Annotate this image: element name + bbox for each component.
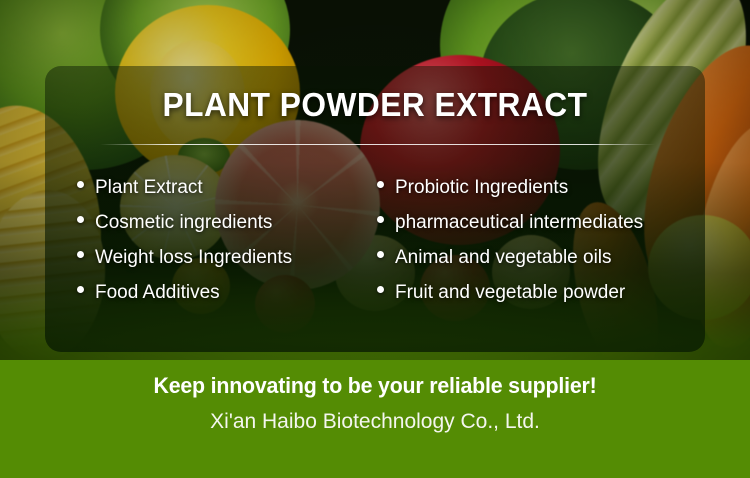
list-item-label: Probiotic Ingredients [395,170,568,205]
bullet-dot-icon [377,181,384,188]
list-item: Probiotic Ingredients [377,170,705,205]
product-banner: PLANT POWDER EXTRACT Plant Extract Cosme… [0,0,750,478]
left-category-column: Plant Extract Cosmetic ingredients Weigh… [45,170,377,310]
bullet-dot-icon [77,251,84,258]
bullet-dot-icon [77,181,84,188]
list-item-label: Animal and vegetable oils [395,240,612,275]
right-category-column: Probiotic Ingredients pharmaceutical int… [377,170,705,310]
list-item: Fruit and vegetable powder [377,275,705,310]
content-card: PLANT POWDER EXTRACT Plant Extract Cosme… [45,66,705,352]
list-item-label: Fruit and vegetable powder [395,275,625,310]
list-item-label: pharmaceutical intermediates [395,205,643,240]
list-item-label: Cosmetic ingredients [95,205,272,240]
page-title: PLANT POWDER EXTRACT [58,86,692,124]
list-item: Food Additives [77,275,377,310]
product-category-columns: Plant Extract Cosmetic ingredients Weigh… [45,170,705,310]
left-category-list: Plant Extract Cosmetic ingredients Weigh… [77,170,377,310]
company-name: Xi'an Haibo Biotechnology Co., Ltd. [0,410,750,434]
list-item: Weight loss Ingredients [77,240,377,275]
list-item: pharmaceutical intermediates [377,205,705,240]
list-item: Cosmetic ingredients [77,205,377,240]
bullet-dot-icon [377,216,384,223]
list-item: Animal and vegetable oils [377,240,705,275]
slogan-text: Keep innovating to be your reliable supp… [11,373,739,399]
list-item-label: Food Additives [95,275,220,310]
list-item-label: Weight loss Ingredients [95,240,292,275]
footer-band: Keep innovating to be your reliable supp… [0,360,750,478]
right-category-list: Probiotic Ingredients pharmaceutical int… [377,170,705,310]
title-divider [100,144,655,145]
list-item-label: Plant Extract [95,170,203,205]
bullet-dot-icon [77,286,84,293]
bullet-dot-icon [377,251,384,258]
bullet-dot-icon [377,286,384,293]
bullet-dot-icon [77,216,84,223]
list-item: Plant Extract [77,170,377,205]
